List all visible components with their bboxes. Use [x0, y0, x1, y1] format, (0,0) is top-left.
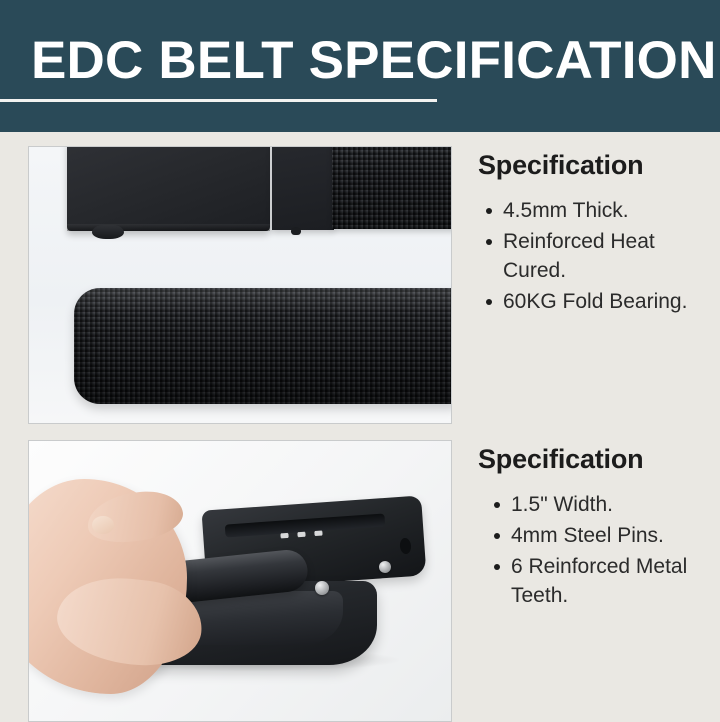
- webbing-strap-top: [332, 146, 452, 229]
- hand-holding-buckle-photo: [28, 440, 452, 722]
- thumbnail: [92, 516, 114, 534]
- buckle-side-block: [272, 146, 334, 230]
- spec-list-item: 6 Reinforced Metal Teeth.: [494, 552, 720, 610]
- spec-heading-2: Specification: [478, 444, 643, 475]
- spec-list-item: 1.5" Width.: [494, 490, 720, 519]
- spec-list-2: 1.5" Width. 4mm Steel Pins. 6 Reinforced…: [494, 490, 720, 612]
- webbing-strap-main: [74, 288, 452, 404]
- buckle-rivet-right: [379, 561, 391, 573]
- spec-list-item: Reinforced Heat Cured.: [486, 227, 718, 285]
- spec-list-item: 4mm Steel Pins.: [494, 521, 720, 550]
- buckle-foot-small: [291, 227, 301, 235]
- belt-buckle-and-webbing-photo: [28, 146, 452, 424]
- buckle-foot: [92, 225, 124, 239]
- header-bar: EDC BELT SPECIFICATION: [0, 0, 720, 132]
- spec-heading-1: Specification: [478, 150, 643, 181]
- buckle-rivet-left: [315, 581, 329, 595]
- title-underline-rule: [0, 99, 437, 102]
- spec-list-1: 4.5mm Thick. Reinforced Heat Cured. 60KG…: [486, 196, 718, 318]
- buckle-main-body: [67, 146, 270, 231]
- spec-list-item: 60KG Fold Bearing.: [486, 287, 718, 316]
- page-title: EDC BELT SPECIFICATION: [31, 33, 717, 89]
- spec-list-item: 4.5mm Thick.: [486, 196, 718, 225]
